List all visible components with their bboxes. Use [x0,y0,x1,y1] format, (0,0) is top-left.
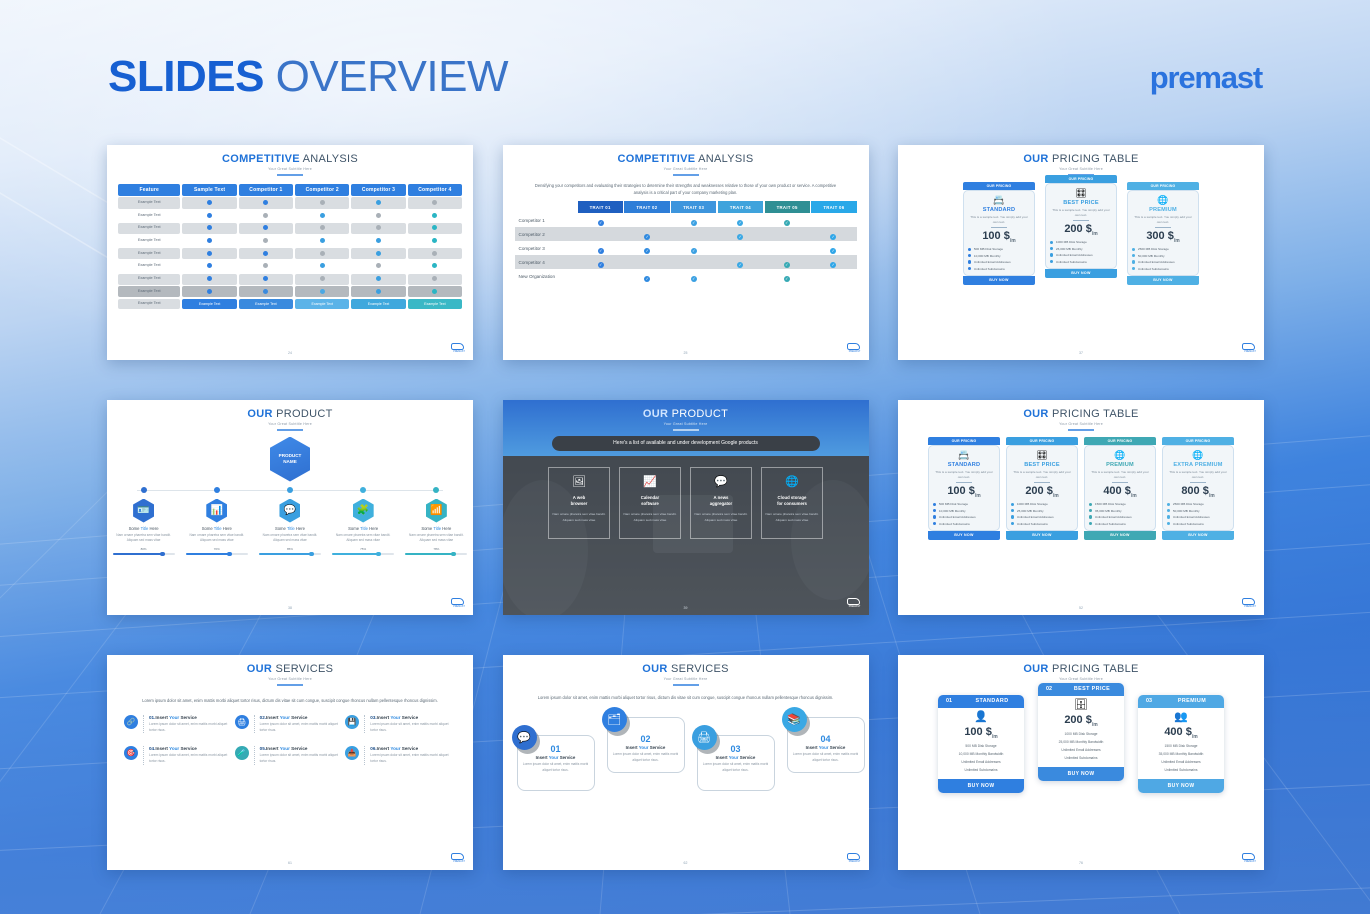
product-banner: Here's a list of available and under dev… [552,436,820,451]
plan-feature: 26,000 MB Monthly [1050,247,1112,251]
check-icon: ✓ [691,276,697,282]
table-cell [182,248,236,259]
slides-row-1: COMPETITIVE ANALYSIS Your Great Subtitle… [107,145,1264,360]
buy-now-button[interactable]: BUY NOW [1127,276,1199,285]
step-description: Lorem ipsum dolor sit amet, enim mattis … [608,752,684,763]
premast-logo: premast [1150,60,1262,96]
status-dot [376,263,381,268]
plan-feature: 10,000 MB Monthly Bandwidth [938,751,1024,759]
divider-dash [956,482,972,483]
slide-title-bold: OUR [642,663,667,675]
table-cell: Example Text [182,299,236,309]
step-description: Lorem ipsum dolor sit amet, enim mattis … [518,762,594,773]
plan-icon: 🗄 [1038,700,1124,711]
product-card[interactable]: 🖼 A webbrowser Nam ornare pharetra sem v… [548,467,610,539]
premast-watermark: PREMAST [1242,853,1258,865]
plan-name: STANDARD [933,462,995,468]
service-item[interactable]: 🎯 04.Insert Your Service Lorem ipsum dol… [124,746,235,764]
table-row-label: Example Text [118,223,180,234]
pricing-card-header: 02 BEST PRICE [1038,683,1124,696]
service-description: Lorem ipsum dolor sit amet, enim mattis … [149,753,235,764]
plan-description: This is a sample text. You simply add yo… [1089,470,1151,479]
premast-watermark: PREMAST [451,343,467,355]
plan-price: 200 $/m [1011,485,1073,499]
slide-title-light: SERVICES [671,663,729,675]
step-number: 04 [788,734,864,744]
pricing-cards: OUR PRICING 📇 STANDARD This is a sample … [898,182,1264,285]
slide-subtitle: Your Great Subtitle Here [898,677,1264,681]
table-cell [408,248,462,259]
pricing-key-cards: 01 STANDARD 👤 100 $/m 500 MB Disk Storag… [898,695,1264,793]
service-description: Lorem ipsum dolor sit amet, enim mattis … [149,722,235,733]
plan-feature: Unlimited Email Addresses [1011,515,1073,519]
trait-cell: ✓ [671,267,718,285]
table-cell [182,261,236,272]
slide-page-number: 76 [1079,861,1083,865]
step-icon-bubble[interactable]: 📚 [782,707,807,732]
status-dot [432,213,437,218]
trait-cell: ✓ [578,211,625,229]
trait-cell: ✓ [717,253,764,271]
product-timeline: 🪪 Some Title Here Nam ornare pharetra se… [107,487,473,556]
plan-price: 100 $/m [938,726,1024,740]
table-cell [295,261,349,272]
table-row: Example Text [118,274,462,285]
slide-header: OUR SERVICES Your Great Subtitle Here [107,655,473,686]
premast-watermark: PREMAST [1242,598,1258,610]
service-icon: 💾 [345,715,359,729]
slide-title-bold: OUR [1023,153,1048,165]
plan-feature: Unlimited Email Addresses [1089,515,1151,519]
status-dot [432,263,437,268]
table-cell [295,286,349,297]
status-dot [376,276,381,281]
table-cell: Example Text [351,299,405,309]
cell-pill: Example Text [295,299,349,309]
table-cell [239,261,293,272]
slide-pricing-table-three[interactable]: OUR PRICING TABLE Your Great Subtitle He… [898,145,1264,360]
product-card-title: A webbrowser [549,495,609,508]
plan-price: 100 $/m [933,485,995,499]
plan-feature: 35,000 MB Monthly [1089,509,1151,513]
product-card[interactable]: 🌐 Cloud storagefor consumers Nam ornare … [761,467,823,539]
divider-dash [277,429,303,431]
service-title: 04.Insert Your Service [149,746,235,751]
pricing-card[interactable]: OUR PRICING 📇 STANDARD This is a sample … [928,437,1000,540]
step-icon-bubble[interactable]: 💬 [512,725,537,750]
status-dot [263,225,268,230]
status-dot [207,213,212,218]
plan-name: BEST PRICE [1050,200,1112,206]
plan-price: 100 $/m [968,230,1030,244]
premast-watermark: PREMAST [451,853,467,865]
service-divider [143,715,144,733]
product-feature-item[interactable]: 🧩 Some Title Here Nam ornare pharetra se… [332,487,394,556]
status-dot [207,251,212,256]
slide-title-light: ANALYSIS [698,153,753,165]
table-header-cell: Sample Text [182,184,236,196]
divider-dash [1034,482,1050,483]
feature-icon: 🧩 [353,499,374,523]
step-description: Lorem ipsum dolor sit amet, enim mattis … [698,762,774,773]
plan-feature: 50,000 MB Monthly [1167,509,1229,513]
traits-table: TRAIT 01TRAIT 02TRAIT 03TRAIT 04TRAIT 05… [515,201,857,283]
pricing-card[interactable]: OUR PRICING 🎛 BEST PRICE This is a sampl… [1006,437,1078,540]
divider-dash [277,174,303,176]
table-cell [239,235,293,246]
plan-price: 400 $/m [1138,726,1224,740]
status-dot [432,225,437,230]
buy-now-button[interactable]: BUY NOW [928,531,1000,540]
trait-row-label: Competitor 1 [515,218,578,223]
timeline-items: 🪪 Some Title Here Nam ornare pharetra se… [107,487,473,556]
table-row: Example Text [118,286,462,297]
progress-bar [186,553,248,555]
status-dot [207,200,212,205]
status-dot [432,276,437,281]
plan-name: BEST PRICE [1011,462,1073,468]
product-card-title: A newsaggregator [691,495,751,508]
status-dot [207,225,212,230]
table-cell [295,210,349,221]
feature-title: Some Title Here [405,526,467,531]
pricing-card[interactable]: 02 BEST PRICE 🗄 200 $/m 1000 MB Disk Sto… [1038,683,1124,781]
service-divider [254,715,255,733]
slide-competitive-analysis-traits[interactable]: COMPETITIVE ANALYSIS Your Great Subtitle… [503,145,869,360]
slide-title: OUR SERVICES [107,663,473,675]
table-cell [239,210,293,221]
feature-text: Nam ornare pharetra sem vitae bandit. Al… [405,533,467,544]
table-cell [295,248,349,259]
check-icon: ✓ [644,276,650,282]
table-cell [351,248,405,259]
cell-pill: Example Text [351,299,405,309]
page-title-light: OVERVIEW [276,52,508,101]
plan-feature: 50,000 MB Monthly [1132,254,1194,258]
premast-watermark: PREMAST [1242,343,1258,355]
service-text-block: 04.Insert Your Service Lorem ipsum dolor… [149,746,235,764]
product-card[interactable]: 📈 Calendarsoftware Nam ornare pharetra s… [619,467,681,539]
plan-feature: Unlimited Email Addresses [1050,253,1112,257]
table-cell [182,274,236,285]
service-item[interactable]: 🧪 05.Insert Your Service Lorem ipsum dol… [235,746,346,764]
pricing-ribbon: OUR PRICING [963,182,1035,190]
slide-title-light: SERVICES [275,663,333,675]
plan-feature: Unlimited Email Addresses [1167,515,1229,519]
plan-feature: Unlimited Subdomains [933,522,995,526]
premast-watermark: PREMAST [451,598,467,610]
feature-icon: 🪪 [133,499,154,523]
status-dot [432,251,437,256]
plan-feature: 500 MB Disk Storage [933,502,995,506]
divider-dash [991,227,1007,228]
slide-title: OUR SERVICES [503,663,869,675]
service-text-block: 01.Insert Your Service Lorem ipsum dolor… [149,715,235,733]
table-row-label: Example Text [118,210,180,221]
pricing-card[interactable]: OUR PRICING 📇 STANDARD This is a sample … [963,182,1035,285]
slide-title-light: PRODUCT [672,408,729,420]
status-dot [207,289,212,294]
buy-now-button[interactable]: BUY NOW [1045,269,1117,278]
product-feature-item[interactable]: 📊 Some Title Here Nam ornare pharetra se… [186,487,248,556]
service-text-block: 02.Insert Your Service Lorem ipsum dolor… [260,715,346,733]
service-description: Lorem ipsum dolor sit amet, enim mattis … [260,753,346,764]
plan-feature: 1500 MB Disk Storage [1089,502,1151,506]
product-feature-item[interactable]: 💬 Some Title Here Nam ornare pharetra se… [259,487,321,556]
cell-pill: Example Text [408,299,462,309]
check-icon: ✓ [784,220,790,226]
table-cell [351,235,405,246]
buy-now-button[interactable]: BUY NOW [1038,767,1124,781]
slide-header: OUR PRICING TABLE Your Great Subtitle He… [898,145,1264,176]
slide-header: COMPETITIVE ANALYSIS Your Great Subtitle… [107,145,473,176]
slide-header: OUR PRICING TABLE Your Great Subtitle He… [898,655,1264,686]
step-icon-bubble[interactable]: 🗂 [602,707,627,732]
slide-our-services-grid[interactable]: OUR SERVICES Your Great Subtitle Here Lo… [107,655,473,870]
service-icon: 🧪 [235,746,249,760]
product-card-text: Nam ornare pharetra sem vitae bandit. Al… [620,512,680,523]
slide-our-product-dark[interactable]: OUR PRODUCT Your Great Subtitle Here Her… [503,400,869,615]
plan-feature: 1000 MB Disk Storage [1038,731,1124,739]
feature-percent-label: 78% [405,547,467,551]
trait-cell: ✓ [671,211,718,229]
service-divider [254,746,255,764]
competitive-table: FeatureSample TextCompetitor 1Competitor… [118,184,462,309]
product-feature-item[interactable]: 🪪 Some Title Here Nam ornare pharetra se… [113,487,175,556]
service-text-block: 06.Insert Your Service Lorem ipsum dolor… [370,746,456,764]
table-cell [295,274,349,285]
service-item[interactable]: 📥 06.Insert Your Service Lorem ipsum dol… [345,746,456,764]
trait-row-label: Competitor 3 [515,246,578,251]
slide-title-bold: COMPETITIVE [617,153,695,165]
slide-subtitle: Your Great Subtitle Here [503,677,869,681]
slide-our-product-timeline[interactable]: OUR PRODUCT Your Great Subtitle Here PRO… [107,400,473,615]
plan-description: This is a sample text. You simply add yo… [1011,470,1073,479]
slide-title: OUR PRICING TABLE [898,408,1264,420]
divider-dash [1068,429,1094,431]
pricing-card-body: 🎛 BEST PRICE This is a sample text. You … [1045,183,1117,269]
pricing-card-body: 🎛 BEST PRICE This is a sample text. You … [1006,445,1078,531]
slide-page-number: 61 [288,861,292,865]
table-cell [351,210,405,221]
buy-now-button[interactable]: BUY NOW [1162,531,1234,540]
plan-name: EXTRA PREMIUM [1167,462,1229,468]
feature-title: Some Title Here [259,526,321,531]
buy-now-button[interactable]: BUY NOW [1138,779,1224,793]
divider-dash [277,684,303,686]
table-cell [351,223,405,234]
table-cell [239,223,293,234]
plan-feature: Unlimited Email Addresses [1132,260,1194,264]
divider-dash [673,684,699,686]
slide-title-bold: OUR [1023,663,1048,675]
feature-percent-label: 70% [186,547,248,551]
slide-subtitle: Your Great Subtitle Here [107,422,473,426]
table-cell [408,235,462,246]
slide-our-services-steps[interactable]: OUR SERVICES Your Great Subtitle Here Lo… [503,655,869,870]
slide-title-bold: OUR [247,408,272,420]
buy-now-button[interactable]: BUY NOW [963,276,1035,285]
table-header-cell: Competitor 4 [408,184,462,196]
trait-cell: ✓ [578,253,625,271]
trait-row: Competitor 1✓✓✓✓ [515,213,857,227]
plan-icon: 👤 [938,712,1024,723]
table-cell [408,223,462,234]
feature-text: Nam ornare pharetra sem vitae bandit. Al… [259,533,321,544]
slide-title-light: PRODUCT [276,408,333,420]
pricing-card[interactable]: 01 STANDARD 👤 100 $/m 500 MB Disk Storag… [938,695,1024,793]
table-row-label: Example Text [118,197,180,208]
plan-icon: 🎛 [1050,189,1112,198]
slide-header: OUR PRODUCT Your Great Subtitle Here [107,400,473,431]
status-dot [320,225,325,230]
step-title: Insert Your Service [698,755,774,760]
product-feature-item[interactable]: 📶 Some Title Here Nam ornare pharetra se… [405,487,467,556]
product-card-icon: 📈 [620,477,680,488]
table-header-cell: Feature [118,184,180,196]
feature-title: Some Title Here [186,526,248,531]
pricing-card-body: 📇 STANDARD This is a sample text. You si… [928,445,1000,531]
service-item[interactable]: 💾 03.Insert Your Service Lorem ipsum dol… [345,715,456,733]
plan-name: STANDARD [968,207,1030,213]
service-item[interactable]: 🖨 02.Insert Your Service Lorem ipsum dol… [235,715,346,733]
product-card-text: Nam ornare pharetra sem vitae bandit. Al… [762,512,822,523]
product-card-text: Nam ornare pharetra sem vitae bandit. Al… [691,512,751,523]
check-icon: ✓ [830,262,836,268]
status-dot [320,289,325,294]
pricing-ribbon: OUR PRICING [1127,182,1199,190]
progress-bar [259,553,321,555]
plan-feature: Unlimited Subdomains [1011,522,1073,526]
slide-page-number: 62 [684,861,688,865]
feature-icon: 💬 [279,499,300,523]
status-dot [263,289,268,294]
pricing-card-body: 🌐 EXTRA PREMIUM This is a sample text. Y… [1162,445,1234,531]
plan-feature: 2500 MB Disk Storage [1167,502,1229,506]
slide-title: OUR PRODUCT [107,408,473,420]
pricing-card-header: 01 STANDARD [938,695,1024,708]
slide-pricing-table-key[interactable]: OUR PRICING TABLE Your Great Subtitle He… [898,655,1264,870]
slide-title-bold: COMPETITIVE [222,153,300,165]
progress-bar [332,553,394,555]
plan-feature: Unlimited Email Addresses [1038,747,1124,755]
slide-page-number: 24 [288,351,292,355]
plan-feature: Unlimited Subdomains [968,267,1030,271]
slide-competitive-analysis-table[interactable]: COMPETITIVE ANALYSIS Your Great Subtitle… [107,145,473,360]
plan-feature: Unlimited Subdomains [938,767,1024,775]
plan-feature: 10,000 MB Monthly [968,254,1030,258]
table-header-cell: Competitor 3 [351,184,405,196]
status-dot [207,263,212,268]
step-icon-bubble[interactable]: 🖨 [692,725,717,750]
table-cell [351,286,405,297]
table-cell [295,197,349,208]
pricing-card[interactable]: OUR PRICING 🌐 EXTRA PREMIUM This is a sa… [1162,437,1234,540]
table-cell [408,261,462,272]
slide-title: OUR PRICING TABLE [898,153,1264,165]
slide-subtitle: Your Great Subtitle Here [898,422,1264,426]
product-card-text: Nam ornare pharetra sem vitae bandit. Al… [549,512,609,523]
table-cell [239,197,293,208]
slide-title-bold: OUR [1023,408,1048,420]
status-dot [376,225,381,230]
pricing-card-number: 01 [938,698,960,704]
check-icon: ✓ [644,248,650,254]
status-dot [207,276,212,281]
table-row-label: Example Text [118,248,180,259]
table-cell [295,235,349,246]
plan-icon: 🌐 [1167,451,1229,460]
plan-description: This is a sample text. You simply add yo… [968,215,1030,224]
slide-header: OUR PRODUCT Your Great Subtitle Here [503,400,869,431]
buy-now-button[interactable]: BUY NOW [1006,531,1078,540]
table-cell [182,235,236,246]
step-title: Insert Your Service [608,745,684,750]
plan-icon: 📇 [933,451,995,460]
premast-watermark: PREMAST [847,853,863,865]
slide-header: COMPETITIVE ANALYSIS Your Great Subtitle… [503,145,869,176]
page-title-bold: SLIDES [108,52,264,101]
trait-cell: ✓ [624,267,671,285]
pricing-card[interactable]: OUR PRICING 🌐 PREMIUM This is a sample t… [1127,182,1199,285]
trait-row-label: Competitor 2 [515,232,578,237]
trait-row-label: New Organization [515,274,578,279]
divider-dash [1112,482,1128,483]
plan-feature: 500 MB Disk Storage [938,743,1024,751]
plan-feature: Unlimited Email Addresses [933,515,995,519]
table-cell: Example Text [408,299,462,309]
plan-feature: Unlimited Email Addresses [968,260,1030,264]
divider-dash [1073,220,1089,221]
service-icon: 🔗 [124,715,138,729]
timeline-node [214,487,220,493]
slide-page-number: 37 [1079,351,1083,355]
slide-pricing-table-four[interactable]: OUR PRICING TABLE Your Great Subtitle He… [898,400,1264,615]
pricing-card-number: 03 [1138,698,1160,704]
product-card[interactable]: 💬 A newsaggregator Nam ornare pharetra s… [690,467,752,539]
status-dot [320,276,325,281]
pricing-card-body: 🌐 PREMIUM This is a sample text. You sim… [1127,190,1199,276]
buy-now-button[interactable]: BUY NOW [938,779,1024,793]
service-text-block: 03.Insert Your Service Lorem ipsum dolor… [370,715,456,733]
product-card-icon: 💬 [691,477,751,488]
slide-subtitle: Your Great Subtitle Here [898,167,1264,171]
plan-description: This is a sample text. You simply add yo… [1050,208,1112,217]
status-dot [376,238,381,243]
service-title: 02.Insert Your Service [260,715,346,720]
pricing-card-header: 03 PREMIUM [1138,695,1224,708]
slides-grid: COMPETITIVE ANALYSIS Your Great Subtitle… [107,145,1264,910]
pricing-card[interactable]: OUR PRICING 🌐 PREMIUM This is a sample t… [1084,437,1156,540]
pricing-card-body: 🌐 PREMIUM This is a sample text. You sim… [1084,445,1156,531]
plan-feature: Unlimited Subdomains [1089,522,1151,526]
status-dot [432,238,437,243]
trait-cell: ✓ [764,267,811,285]
plan-price: 200 $/m [1050,223,1112,237]
buy-now-button[interactable]: BUY NOW [1084,531,1156,540]
service-icon: 🖨 [235,715,249,729]
table-cell [182,197,236,208]
pricing-card-plan: STANDARD [960,698,1024,704]
traits-body: Competitor 1✓✓✓✓Competitor 2✓✓✓Competito… [515,213,857,283]
pricing-card[interactable]: 03 PREMIUM 👥 400 $/m 1500 MB Disk Storag… [1138,695,1224,793]
service-item[interactable]: 🔗 01.Insert Your Service Lorem ipsum dol… [124,715,235,733]
check-icon: ✓ [737,234,743,240]
pricing-card[interactable]: OUR PRICING 🎛 BEST PRICE This is a sampl… [1045,175,1117,285]
feature-title: Some Title Here [113,526,175,531]
plan-icon: 🎛 [1011,451,1073,460]
pricing-ribbon: OUR PRICING [1006,437,1078,445]
